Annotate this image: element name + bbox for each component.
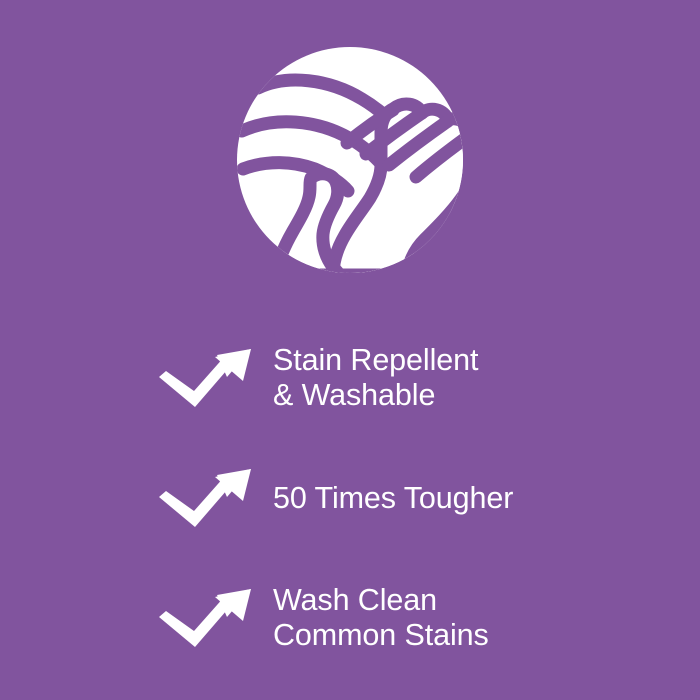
feature-item: Stain Repellent & Washable (0, 318, 700, 438)
feature-label: 50 Times Tougher (273, 481, 513, 516)
check-arrow-icon (155, 579, 255, 657)
feature-item: 50 Times Tougher (0, 438, 700, 558)
washing-hands-icon (237, 47, 463, 273)
feature-item: Wash Clean Common Stains (0, 558, 700, 678)
check-arrow-icon (155, 459, 255, 537)
feature-list: Stain Repellent & Washable 50 Times Toug… (0, 318, 700, 678)
feature-poster: Stain Repellent & Washable 50 Times Toug… (0, 0, 700, 700)
feature-label: Wash Clean Common Stains (273, 583, 489, 653)
feature-label: Stain Repellent & Washable (273, 343, 478, 413)
check-arrow-icon (155, 339, 255, 417)
